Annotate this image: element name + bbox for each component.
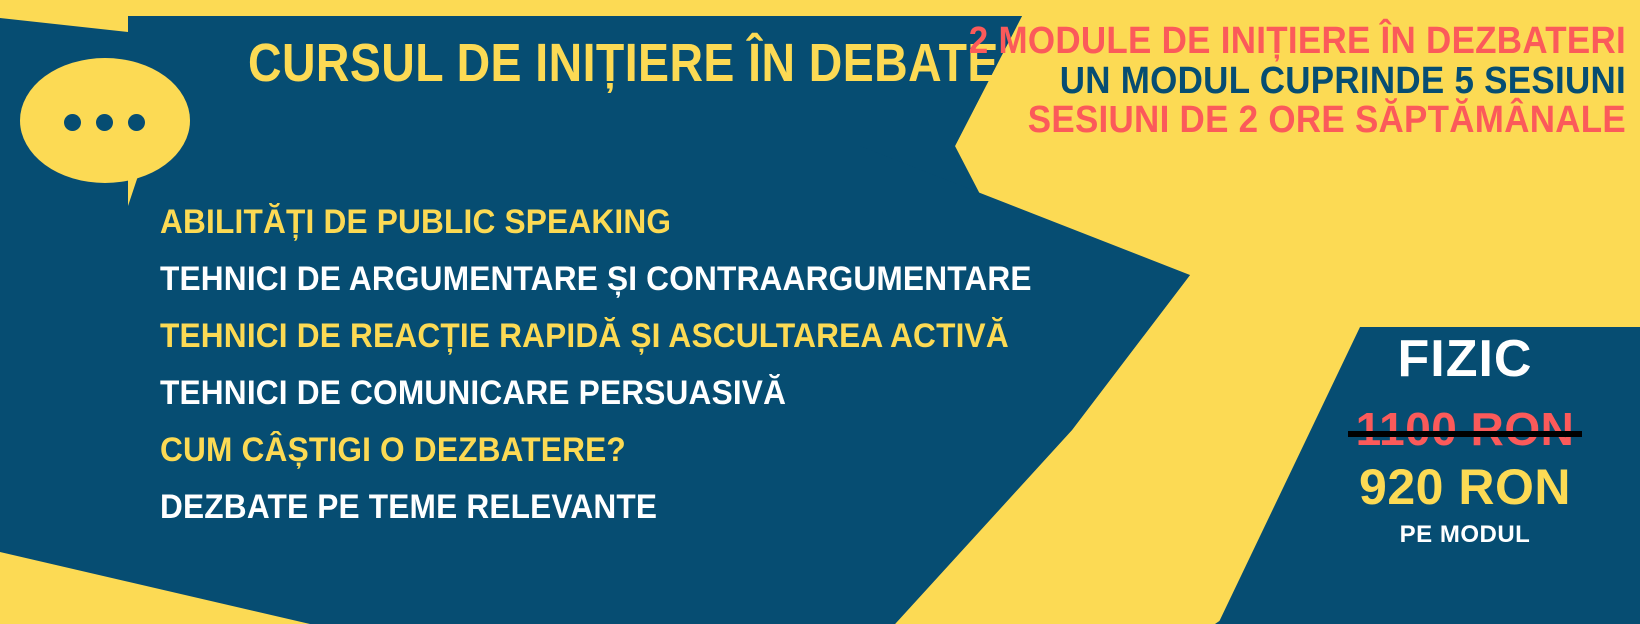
speech-bubble-dot: [64, 114, 81, 131]
course-info-block: 2 MODULE DE INIȚIERE ÎN DEZBATERI UN MOD…: [906, 22, 1626, 141]
price-card-title: FIZIC: [1300, 332, 1630, 387]
price-unit-label: PE MODUL: [1300, 521, 1630, 549]
list-item: TEHNICI DE COMUNICARE PERSUASIVĂ: [160, 376, 960, 410]
info-line: UN MODUL CUPRINDE 5 SESIUNI: [964, 62, 1626, 102]
old-price: 1100 RON: [1356, 405, 1575, 453]
page-title: CURSUL DE INIȚIERE ÎN DEBATE: [248, 36, 850, 90]
speech-bubble-icon: [20, 58, 190, 183]
info-line: 2 MODULE DE INIȚIERE ÎN DEZBATERI: [964, 22, 1626, 62]
speech-bubble-dot: [96, 114, 113, 131]
speech-bubble-tail: [128, 150, 166, 206]
list-item: TEHNICI DE REACȚIE RAPIDĂ ȘI ASCULTAREA …: [160, 319, 960, 353]
strikethrough-line: [1348, 431, 1583, 437]
old-price-wrapper: 1100 RON: [1356, 405, 1575, 453]
list-item: CUM CÂȘTIGI O DEZBATERE?: [160, 433, 960, 467]
feature-list: ABILITĂȚI DE PUBLIC SPEAKING TEHNICI DE …: [160, 205, 1020, 547]
list-item: TEHNICI DE ARGUMENTARE ȘI CONTRAARGUMENT…: [160, 262, 960, 296]
list-item: DEZBATE PE TEME RELEVANTE: [160, 490, 960, 524]
info-line: SESIUNI DE 2 ORE SĂPTĂMÂNALE: [964, 101, 1626, 141]
list-item: ABILITĂȚI DE PUBLIC SPEAKING: [160, 205, 960, 239]
price-card: FIZIC 1100 RON 920 RON PE MODUL: [1300, 326, 1630, 549]
new-price: 920 RON: [1300, 461, 1630, 514]
speech-bubble-dot: [128, 114, 145, 131]
promo-banner: CURSUL DE INIȚIERE ÎN DEBATE 2 MODULE DE…: [0, 0, 1640, 624]
